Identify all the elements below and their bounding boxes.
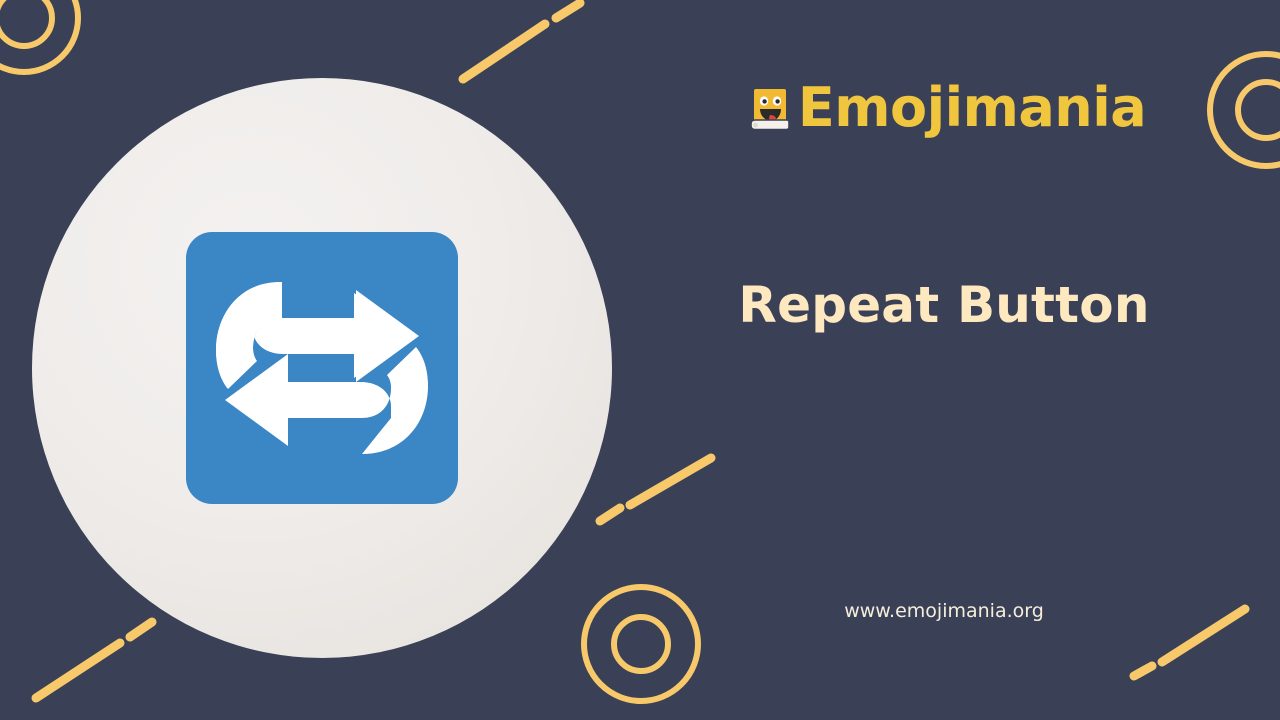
page-title: Repeat Button <box>640 278 1248 333</box>
emoji-showcase <box>32 78 612 658</box>
brand-logo[interactable]: Emojimania <box>640 72 1248 144</box>
brand-name: Emojimania <box>798 81 1146 135</box>
emoji-detail-card: Emojimania Repeat Button www.emojimania.… <box>0 0 1280 720</box>
eye-left-pupil <box>762 99 766 103</box>
dash-bottom-right-short <box>1134 666 1152 676</box>
dash-top-center-long <box>463 24 545 79</box>
ring-top-left <box>0 0 78 72</box>
open-book-smiley-icon <box>742 84 794 136</box>
eye-right-pupil <box>775 99 779 103</box>
dash-top-center-short <box>556 3 580 18</box>
repeat-button-emoji <box>186 232 458 504</box>
site-url[interactable]: www.emojimania.org <box>640 600 1248 623</box>
page-edge-dot <box>753 123 758 128</box>
dash-mid-right-long <box>630 458 711 505</box>
